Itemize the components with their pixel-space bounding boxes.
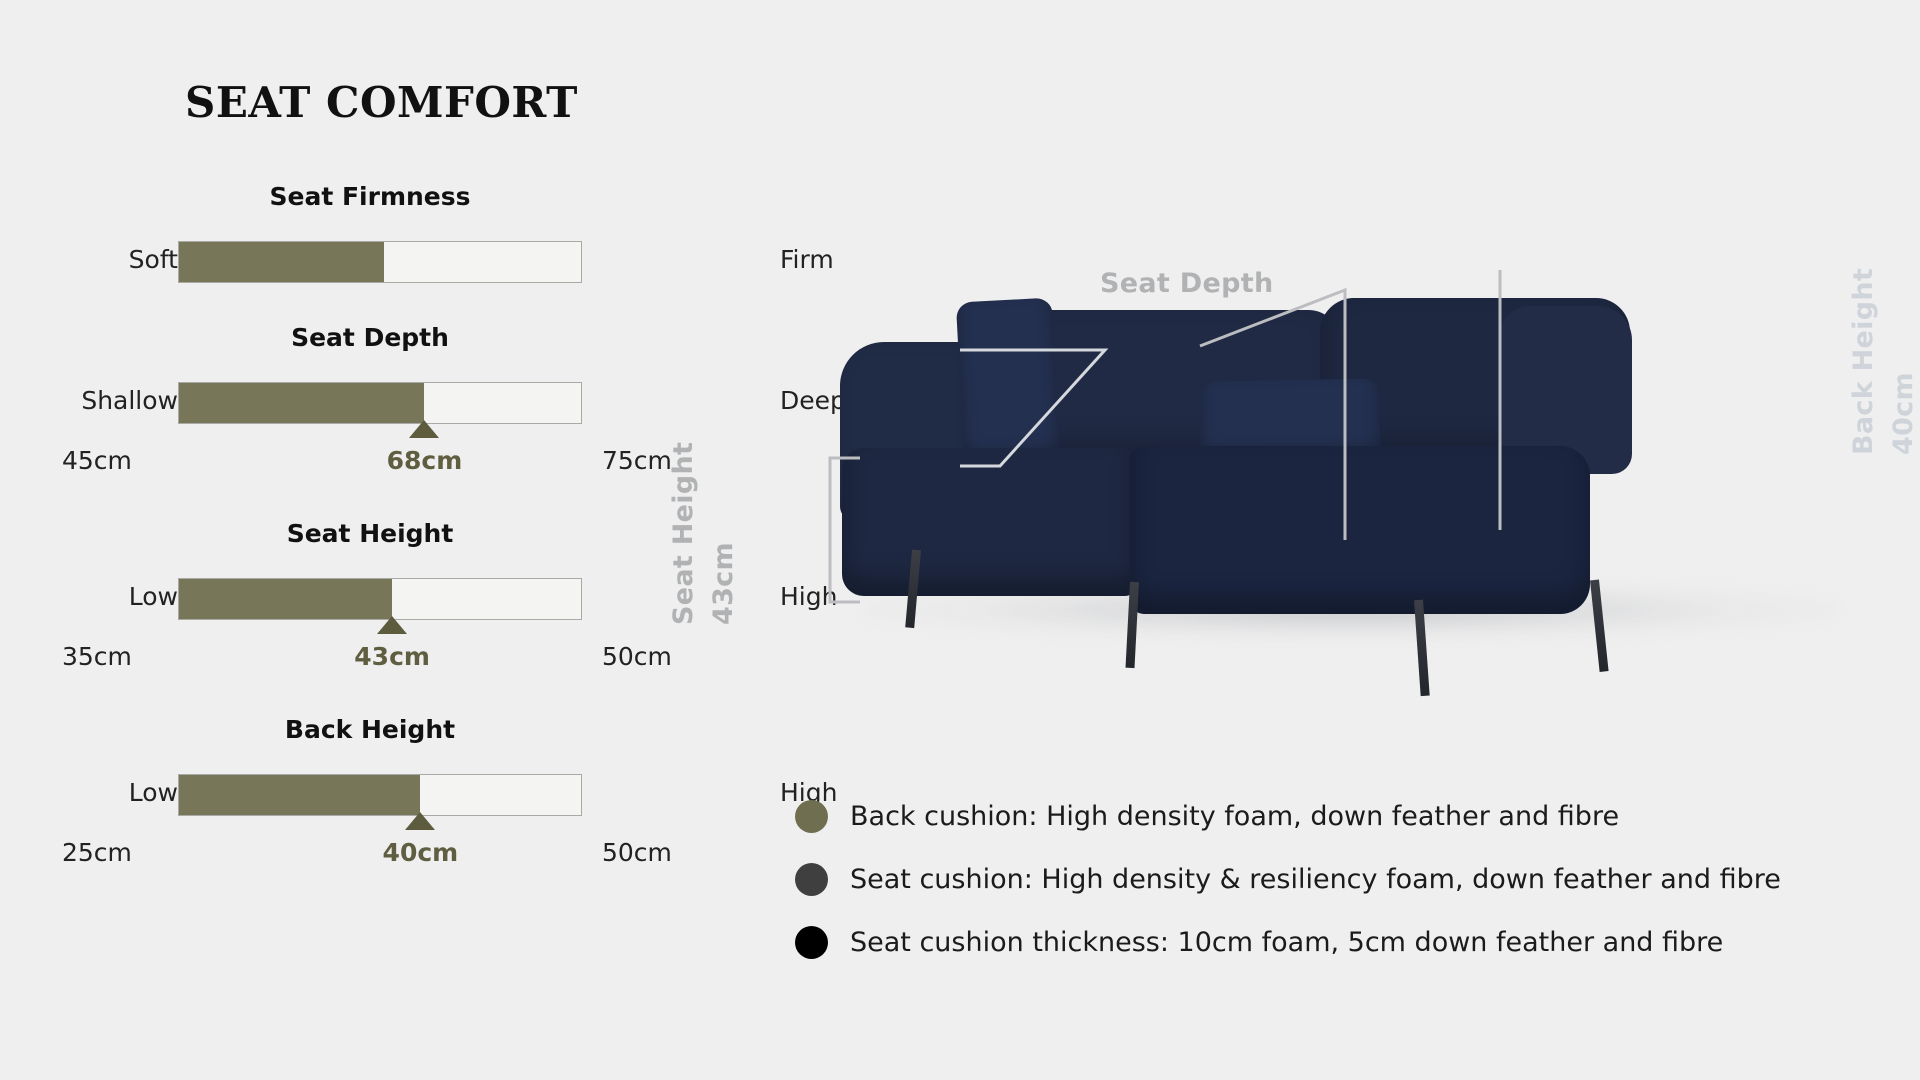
legend-label: Seat cushion thickness: 10cm foam, 5cm d… xyxy=(850,927,1723,958)
annotation-seat-height-value: 43cm xyxy=(708,542,739,625)
slider-track[interactable] xyxy=(178,382,582,424)
metric-label: Seat Firmness xyxy=(60,182,680,211)
scale-min: 25cm xyxy=(62,838,132,867)
back-height-guide xyxy=(960,350,1105,466)
legend-item: Seat cushion thickness: 10cm foam, 5cm d… xyxy=(795,926,1895,959)
metric-seat-depth: Seat Depth Shallow Deep 45cm 68cm 75cm xyxy=(0,323,760,480)
slider-track[interactable] xyxy=(178,774,582,816)
metric-back-height: Back Height Low High 25cm 40cm 50cm xyxy=(0,715,760,872)
slider-track[interactable] xyxy=(178,241,582,283)
scale-row: 25cm 40cm 50cm xyxy=(0,838,760,872)
slider-track-wrap[interactable]: Low High xyxy=(178,774,582,816)
dimension-guides xyxy=(800,250,1920,680)
scale-value: 68cm xyxy=(387,446,463,475)
legend-item: Back cushion: High density foam, down fe… xyxy=(795,800,1895,833)
legend-dot-seat-thickness xyxy=(795,926,828,959)
legend-dot-seat-cushion xyxy=(795,863,828,896)
slider-value-marker[interactable] xyxy=(405,812,435,830)
slider-row[interactable]: Shallow Deep xyxy=(0,382,760,424)
legend-label: Back cushion: High density foam, down fe… xyxy=(850,801,1619,832)
scale-row: 35cm 43cm 50cm xyxy=(0,642,760,676)
slider-fill xyxy=(179,383,424,423)
scale-value: 43cm xyxy=(354,642,430,671)
metric-label: Back Height xyxy=(60,715,680,744)
scale-max: 50cm xyxy=(602,642,672,671)
slider-track-wrap[interactable]: Low High xyxy=(178,578,582,620)
slider-track-wrap[interactable]: Shallow Deep xyxy=(178,382,582,424)
slider-min-label: Shallow xyxy=(58,386,178,415)
scale-max: 50cm xyxy=(602,838,672,867)
seat-depth-guide xyxy=(1200,290,1345,540)
slider-track[interactable] xyxy=(178,578,582,620)
sofa-diagram-panel: Seat Depth 68cm Back Height 40cm Seat He… xyxy=(760,0,1920,1080)
slider-min-label: Low xyxy=(58,582,178,611)
slider-fill xyxy=(179,775,420,815)
slider-track-wrap[interactable]: Soft Firm xyxy=(178,241,582,283)
scale-row: 45cm 68cm 75cm xyxy=(0,446,760,480)
slider-fill xyxy=(179,242,384,282)
metric-seat-firmness: Seat Firmness Soft Firm xyxy=(0,182,760,283)
legend-item: Seat cushion: High density & resiliency … xyxy=(795,863,1895,896)
metric-label: Seat Depth xyxy=(60,323,680,352)
page-title: SEAT COMFORT xyxy=(185,78,578,127)
slider-row[interactable]: Soft Firm xyxy=(0,241,760,283)
slider-row[interactable]: Low High xyxy=(0,578,760,620)
legend-dot-back-cushion xyxy=(795,800,828,833)
slider-fill xyxy=(179,579,392,619)
scale-min: 45cm xyxy=(62,446,132,475)
slider-row[interactable]: Low High xyxy=(0,774,760,816)
metric-label: Seat Height xyxy=(60,519,680,548)
slider-value-marker[interactable] xyxy=(377,616,407,634)
sofa-illustration xyxy=(800,250,1920,680)
comfort-metrics-panel: SEAT COMFORT Seat Firmness Soft Firm Sea… xyxy=(0,0,760,1080)
scale-max: 75cm xyxy=(602,446,672,475)
seat-height-guide xyxy=(830,458,860,602)
slider-min-label: Low xyxy=(58,778,178,807)
scale-value: 40cm xyxy=(383,838,459,867)
legend-label: Seat cushion: High density & resiliency … xyxy=(850,864,1781,895)
seat-comfort-infographic: SEAT COMFORT Seat Firmness Soft Firm Sea… xyxy=(0,0,1920,1080)
scale-min: 35cm xyxy=(62,642,132,671)
annotation-seat-height-label: Seat Height xyxy=(668,442,699,625)
slider-min-label: Soft xyxy=(58,245,178,274)
materials-legend: Back cushion: High density foam, down fe… xyxy=(795,800,1895,989)
metric-seat-height: Seat Height Low High 35cm 43cm 50cm xyxy=(0,519,760,676)
slider-value-marker[interactable] xyxy=(409,420,439,438)
